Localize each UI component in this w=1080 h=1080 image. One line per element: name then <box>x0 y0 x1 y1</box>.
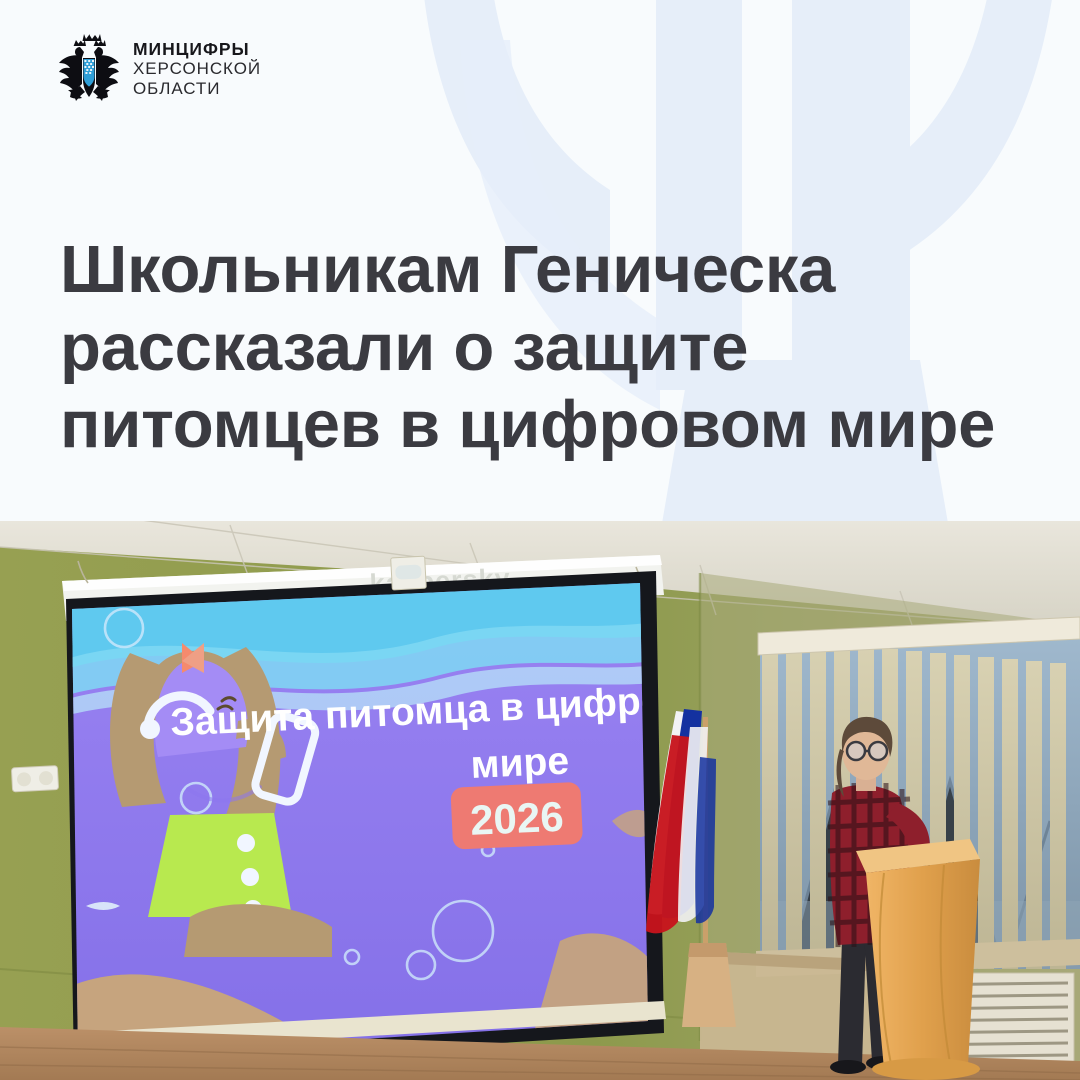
ministry-logo: МИНЦИФРЫ ХЕРСОНСКОЙ ОБЛАСТИ <box>58 30 261 108</box>
svg-text:мире: мире <box>470 740 570 787</box>
header-section: МИНЦИФРЫ ХЕРСОНСКОЙ ОБЛАСТИ Школьникам Г… <box>0 0 1080 521</box>
social-news-card: МИНЦИФРЫ ХЕРСОНСКОЙ ОБЛАСТИ Школьникам Г… <box>0 0 1080 1080</box>
ministry-name-line3: ОБЛАСТИ <box>133 79 261 99</box>
news-photo: kaspersky <box>0 521 1080 1080</box>
page-title: Школьникам Геническа рассказали о защите… <box>60 231 1060 464</box>
headline-line-2: рассказали о защите <box>60 309 1060 387</box>
ministry-logo-text: МИНЦИФРЫ ХЕРСОНСКОЙ ОБЛАСТИ <box>133 39 261 99</box>
headline-line-3: питомцев в цифровом мире <box>60 386 1060 464</box>
svg-text:2026: 2026 <box>469 793 564 844</box>
ministry-name-line1: МИНЦИФРЫ <box>133 39 261 59</box>
double-headed-eagle-icon <box>58 30 120 108</box>
ministry-name-line2: ХЕРСОНСКОЙ <box>133 59 261 79</box>
headline-line-1: Школьникам Геническа <box>60 231 1060 309</box>
